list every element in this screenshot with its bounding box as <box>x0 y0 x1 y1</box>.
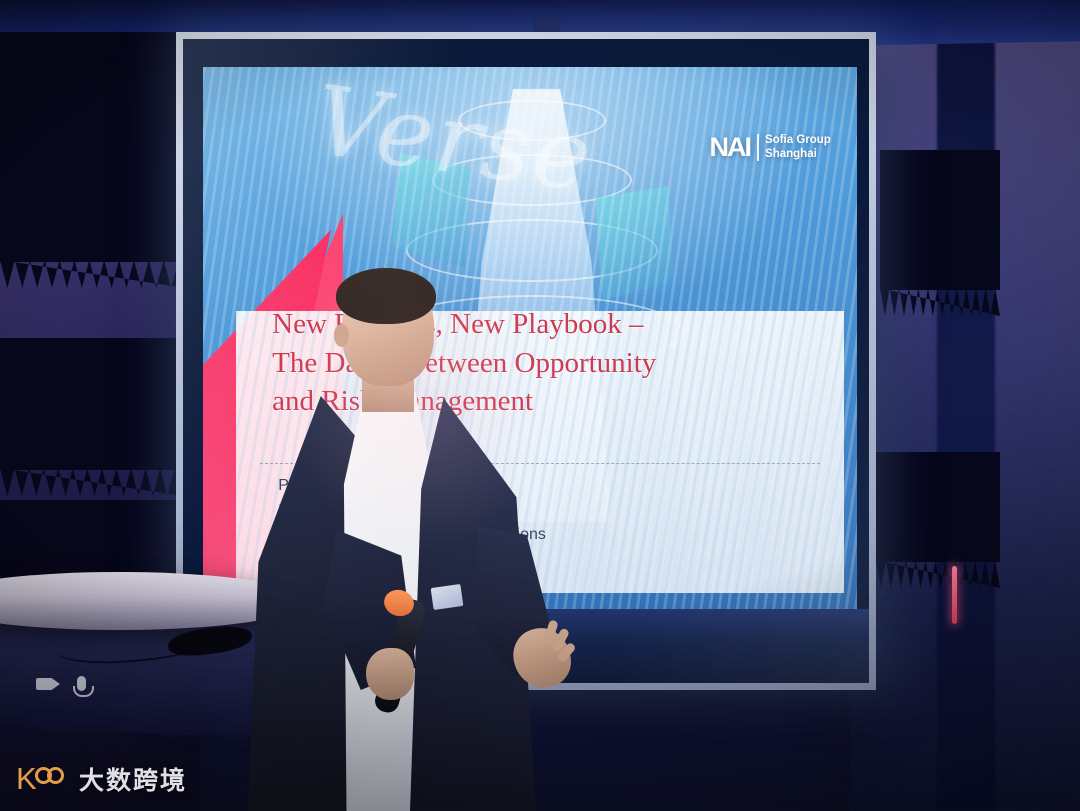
watermark: K 大数跨境 <box>16 761 187 797</box>
left-hand <box>366 648 414 700</box>
acoustic-panel-top-left <box>0 32 186 262</box>
nai-logo-text: Sofia Group Shanghai <box>757 134 831 160</box>
microphone-icon[interactable] <box>77 676 86 691</box>
photo-scene: Verse NAI Sofia Group Shanghai New Reali… <box>0 0 1080 811</box>
watermark-logo-letter: K <box>16 763 37 794</box>
wall-accent-light <box>952 566 957 624</box>
acoustic-panel-mid-left <box>0 338 182 470</box>
nai-logo-line1: Sofia Group <box>765 134 831 147</box>
hair <box>336 268 436 324</box>
ear <box>334 324 349 347</box>
right-wall-column <box>937 0 995 811</box>
speaker-person <box>246 268 568 811</box>
name-badge <box>431 584 464 610</box>
nai-logo-line2: Shanghai <box>765 148 831 161</box>
watermark-text: 大数跨境 <box>79 761 187 797</box>
nai-logo-mark: NAI <box>710 132 751 163</box>
acoustic-panel-top-right <box>880 150 1000 290</box>
watermark-logo-icon: K <box>16 762 68 796</box>
camera-icon[interactable] <box>36 678 53 690</box>
nai-logo: NAI Sofia Group Shanghai <box>710 132 831 163</box>
acoustic-panel-bottom-right <box>876 452 1000 562</box>
video-conference-controls[interactable] <box>36 676 86 691</box>
watermark-circle-2 <box>47 767 64 784</box>
